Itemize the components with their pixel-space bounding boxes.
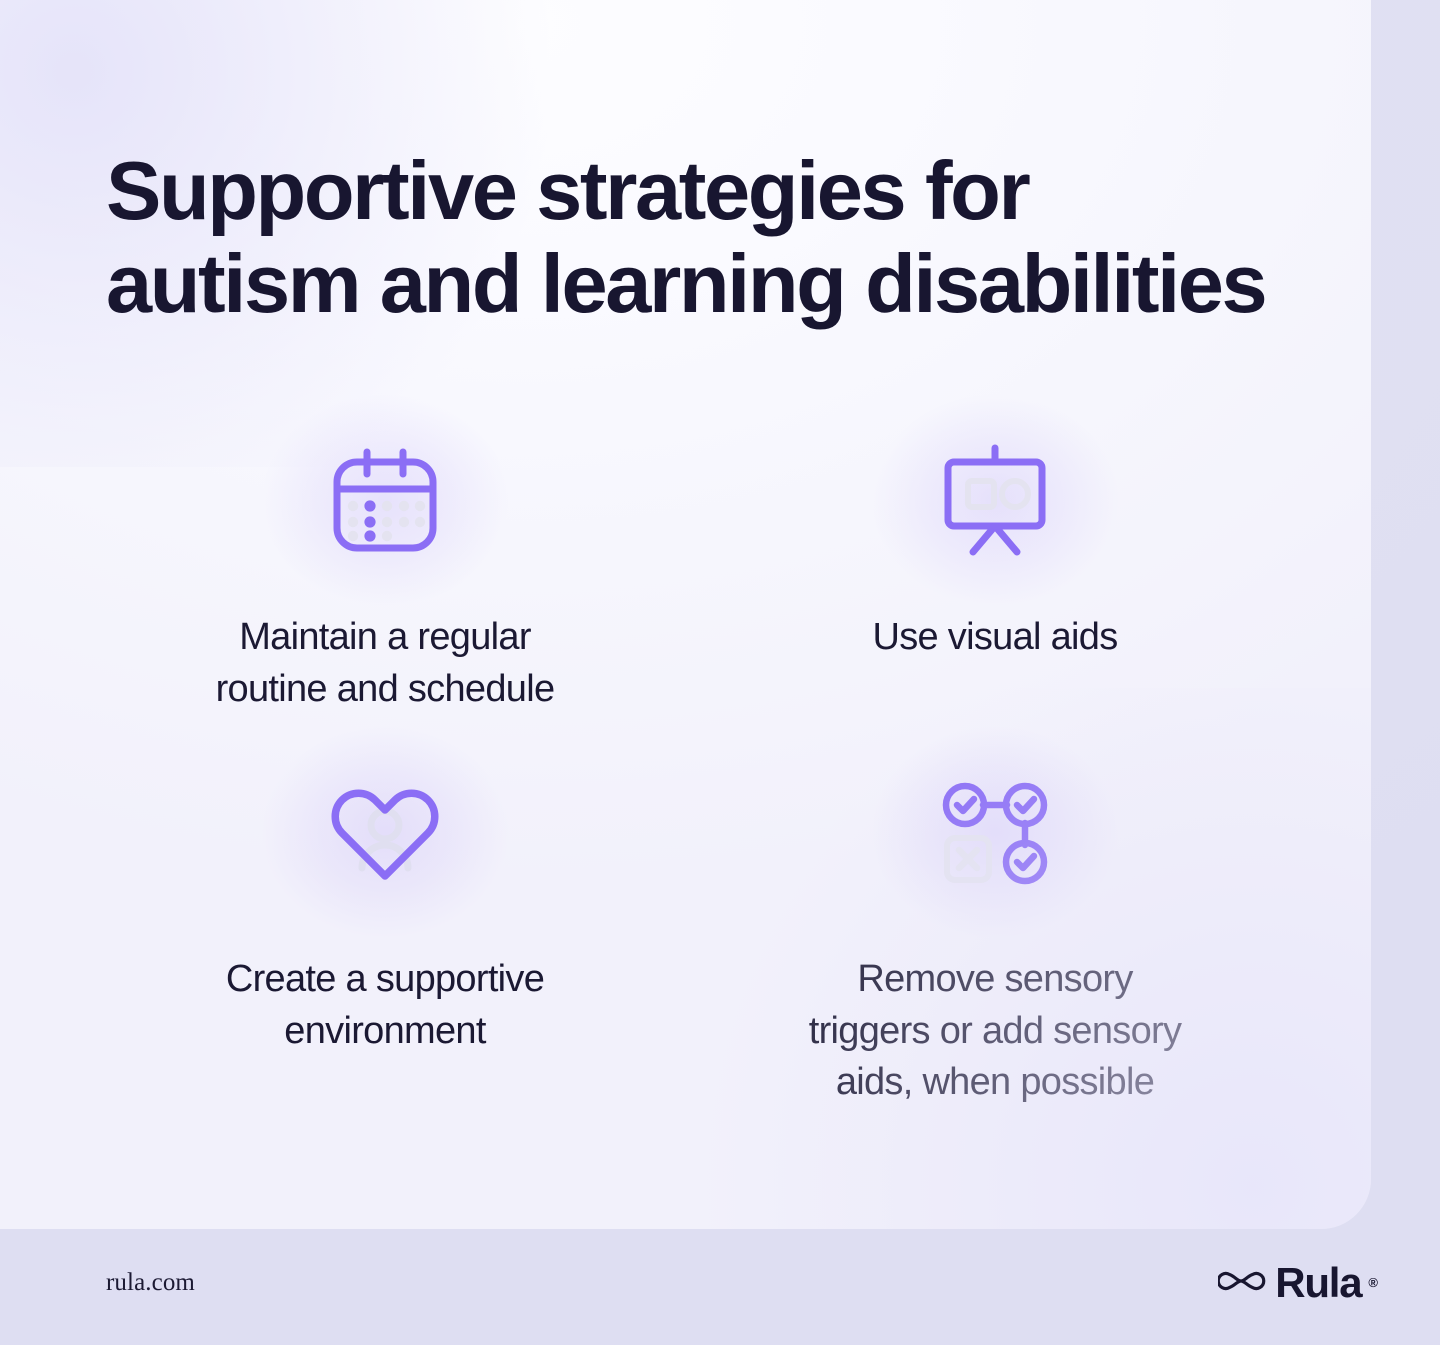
content-card: Supportive strategies for autism and lea… — [0, 0, 1371, 1229]
checklist-nodes-icon — [900, 752, 1090, 912]
strategies-grid: Maintain a regular routine and schedule — [90, 420, 1290, 1109]
presentation-board-icon — [900, 420, 1090, 580]
strategy-label: Maintain a regular routine and schedule — [216, 612, 555, 715]
page-title: Supportive strategies for autism and lea… — [106, 145, 1336, 331]
strategy-label: Remove sensory triggers or add sensory a… — [809, 954, 1182, 1109]
strategy-item-sensory: Remove sensory triggers or add sensory a… — [700, 752, 1290, 1109]
strategy-label: Use visual aids — [872, 612, 1117, 664]
heart-person-icon — [290, 752, 480, 912]
footer: rula.com Rula ® — [0, 1229, 1440, 1345]
strategy-item-routine: Maintain a regular routine and schedule — [90, 420, 680, 750]
registered-trademark-icon: ® — [1368, 1275, 1378, 1290]
strategy-label: Create a supportive environment — [226, 954, 544, 1057]
rula-wordmark: Rula — [1275, 1259, 1361, 1307]
strategy-item-visual-aids: Use visual aids — [700, 420, 1290, 750]
calendar-icon — [290, 420, 480, 580]
footer-url[interactable]: rula.com — [106, 1269, 195, 1297]
strategy-item-environment: Create a supportive environment — [90, 752, 680, 1109]
rula-logo[interactable]: Rula ® — [1218, 1259, 1378, 1307]
rula-knot-logo-icon — [1218, 1264, 1266, 1303]
